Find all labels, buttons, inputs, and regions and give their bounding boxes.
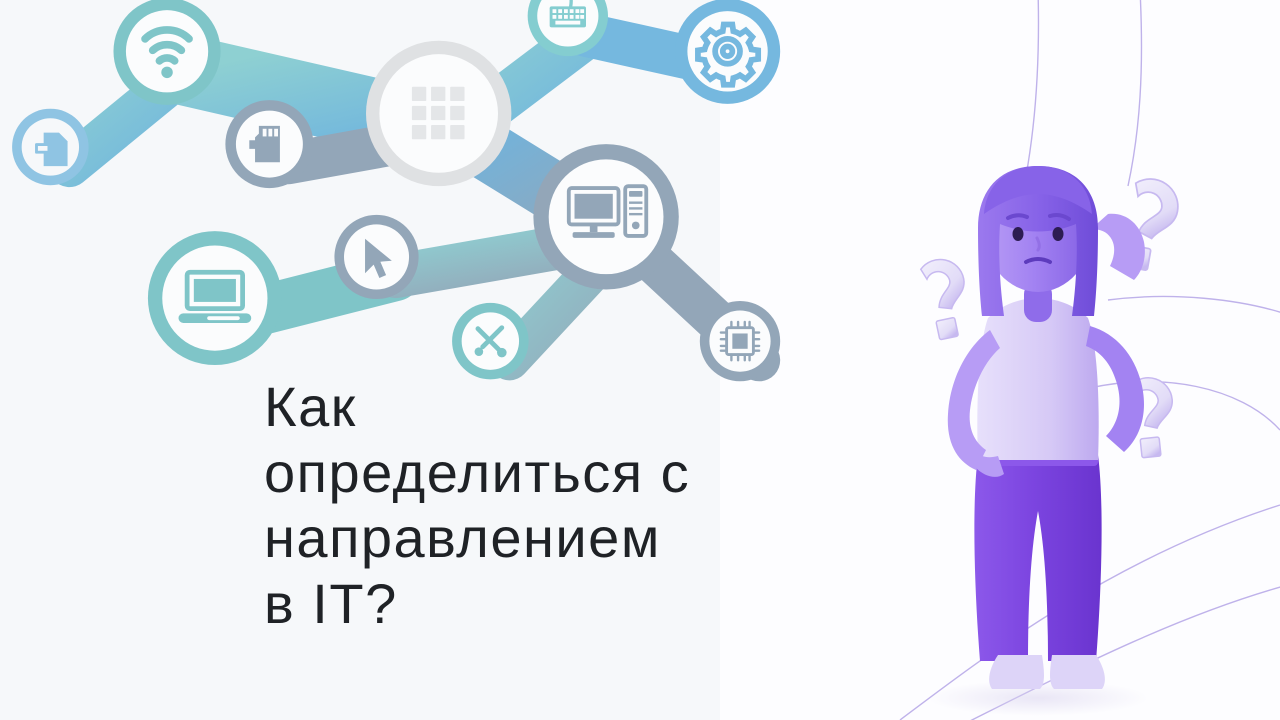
shoe-right bbox=[1050, 655, 1105, 689]
node-cpu-chip bbox=[700, 301, 780, 381]
cpu-chip-icon bbox=[721, 322, 759, 360]
laptop-icon bbox=[179, 272, 252, 323]
eye-left bbox=[1013, 227, 1024, 241]
node-file-document bbox=[12, 109, 89, 186]
node-gear bbox=[675, 0, 780, 104]
node-sd-card bbox=[225, 100, 313, 188]
slide-canvas: Как определиться с направлением в IT? bbox=[0, 0, 1280, 720]
node-wifi bbox=[113, 0, 220, 105]
node-cursor bbox=[334, 215, 418, 299]
shirt bbox=[977, 298, 1098, 460]
node-apps-grid bbox=[366, 41, 511, 186]
node-laptop bbox=[148, 231, 282, 365]
hand-on-head bbox=[1090, 214, 1145, 280]
character-illustration bbox=[840, 0, 1280, 720]
eye-right bbox=[1053, 227, 1064, 241]
pants bbox=[974, 455, 1101, 661]
icon-network-graphic bbox=[0, 0, 840, 410]
shoe-left bbox=[989, 655, 1044, 689]
node-desktop-computer bbox=[533, 144, 678, 289]
figure-body bbox=[948, 166, 1145, 689]
question-mark-left bbox=[919, 255, 975, 341]
apps-grid-icon bbox=[412, 87, 465, 140]
page-title: Как определиться с направлением в IT? bbox=[264, 374, 864, 636]
node-tools bbox=[452, 303, 529, 380]
